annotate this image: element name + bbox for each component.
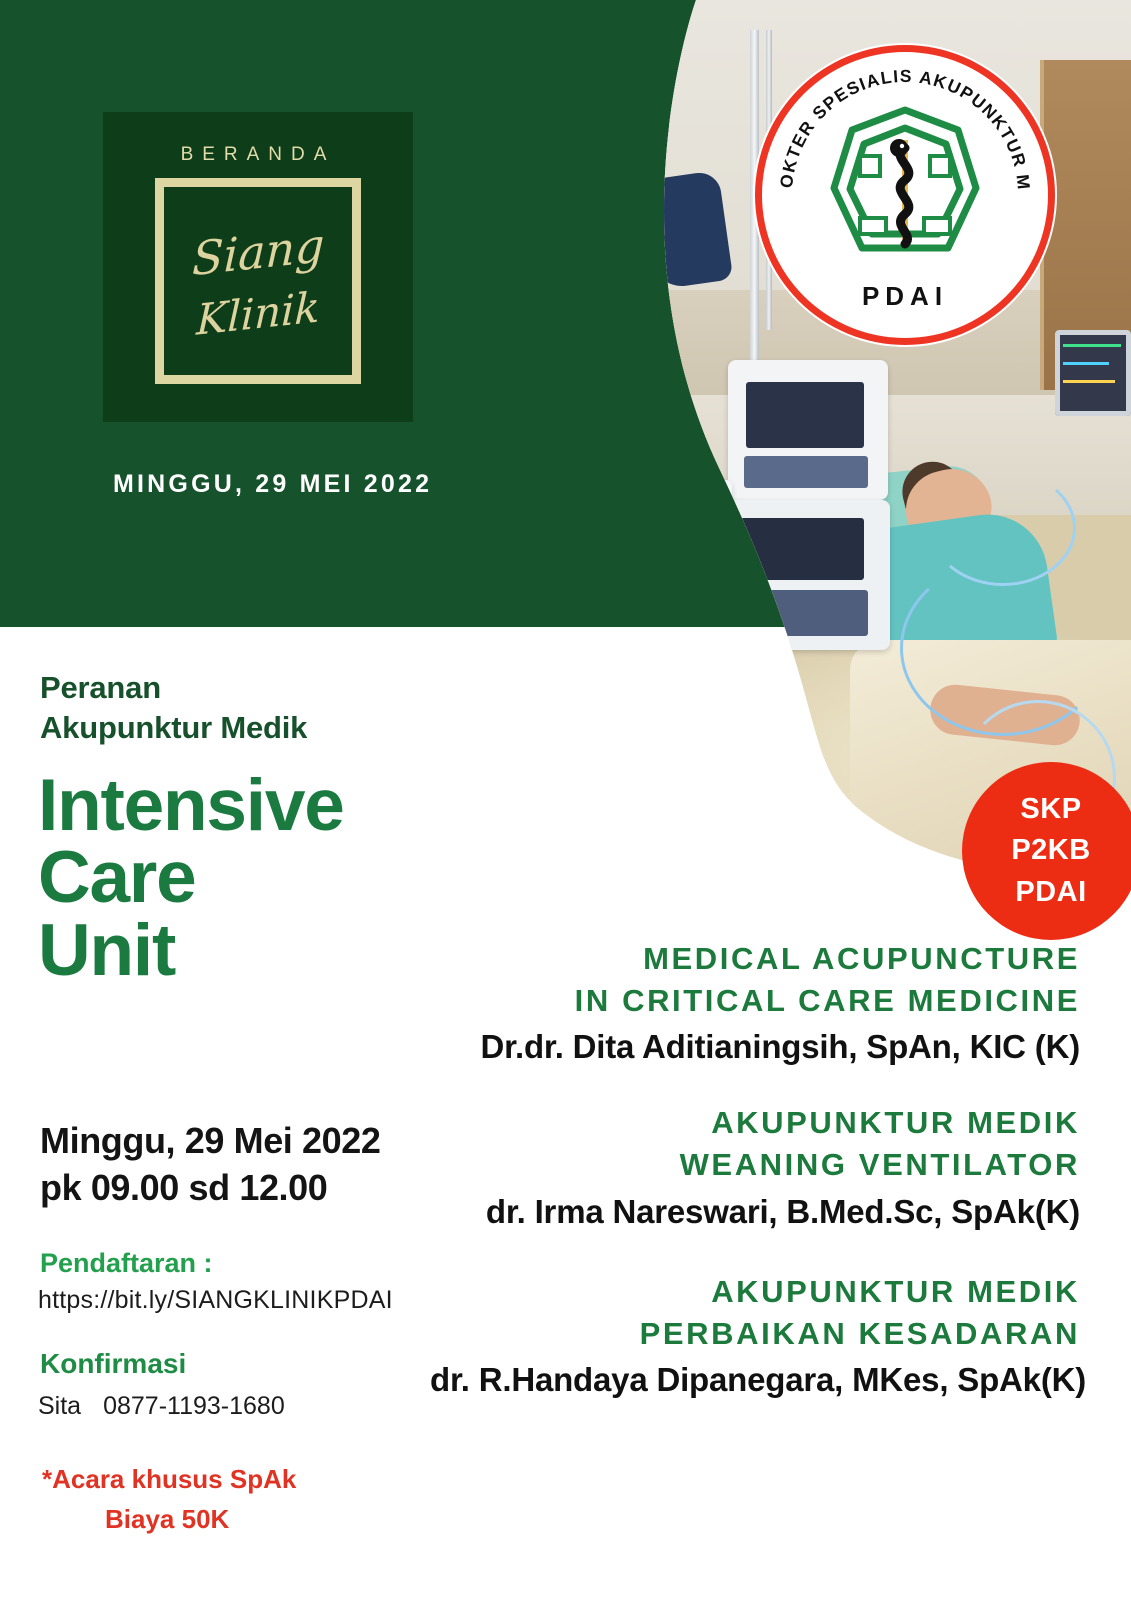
session-speaker: Dr.dr. Dita Aditianingsih, SpAn, KIC (K) — [430, 1028, 1080, 1066]
seal-acronym: PDAI — [762, 281, 1048, 312]
headline-kicker-line2: Akupunktur Medik — [40, 708, 470, 748]
siang-klinik-logo: BERANDA Siang Klinik — [103, 112, 413, 422]
seal-ring-text: PERHIMPUNAN DOKTER SPESIALIS AKUPUNKTUR … — [762, 52, 1034, 191]
headline-kicker: Peranan Akupunktur Medik — [40, 668, 470, 747]
main-title-line3: Unit — [38, 915, 468, 987]
skp-badge-line2: P2KB — [1011, 830, 1090, 871]
session-topic: MEDICAL ACUPUNCTURE IN CRITICAL CARE MED… — [430, 938, 1080, 1022]
note-special-event: *Acara khusus SpAk — [42, 1464, 296, 1495]
brand-script-line2: Klinik — [195, 282, 320, 344]
session-item: AKUPUNKTUR MEDIK PERBAIKAN KESADARAN dr.… — [430, 1271, 1080, 1399]
pdai-seal-logo: PERHIMPUNAN DOKTER SPESIALIS AKUPUNKTUR … — [762, 52, 1048, 338]
session-topic-line1: MEDICAL ACUPUNCTURE — [430, 938, 1080, 980]
skp-badge-line1: SKP — [1020, 789, 1081, 830]
registration-label: Pendaftaran : — [40, 1248, 213, 1279]
confirmation-contact: Sita0877-1193-1680 — [38, 1392, 285, 1421]
session-topic: AKUPUNKTUR MEDIK PERBAIKAN KESADARAN — [430, 1271, 1080, 1355]
session-speaker: dr. R.Handaya Dipanegara, MKes, SpAk(K) — [430, 1361, 1080, 1399]
main-title-line2: Care — [38, 842, 468, 914]
confirmation-phone[interactable]: 0877-1193-1680 — [103, 1392, 285, 1420]
session-list: MEDICAL ACUPUNCTURE IN CRITICAL CARE MED… — [430, 938, 1080, 1399]
session-topic-line2: IN CRITICAL CARE MEDICINE — [430, 980, 1080, 1022]
session-topic-line2: PERBAIKAN KESADARAN — [430, 1313, 1080, 1355]
confirmation-name: Sita — [38, 1392, 81, 1420]
registration-link[interactable]: https://bit.ly/SIANGKLINIKPDAI — [38, 1286, 393, 1315]
session-topic: AKUPUNKTUR MEDIK WEANING VENTILATOR — [430, 1102, 1080, 1186]
poster-canvas: PERHIMPUNAN DOKTER SPESIALIS AKUPUNKTUR … — [0, 0, 1131, 1600]
header-date: MINGGU, 29 MEI 2022 — [113, 466, 443, 502]
brand-script: Siang Klinik — [164, 187, 352, 375]
main-title-line1: Intensive — [38, 770, 468, 842]
brand-frame: Siang Klinik — [155, 178, 361, 384]
session-item: MEDICAL ACUPUNCTURE IN CRITICAL CARE MED… — [430, 938, 1080, 1066]
session-topic-line2: WEANING VENTILATOR — [430, 1144, 1080, 1186]
skp-badge: SKP P2KB PDAI — [962, 762, 1131, 940]
skp-badge-line3: PDAI — [1015, 872, 1086, 913]
headline-kicker-line1: Peranan — [40, 668, 470, 708]
note-fee: Biaya 50K — [105, 1504, 229, 1535]
brand-script-line1: Siang — [191, 217, 325, 285]
patient-monitor-icon — [1055, 330, 1131, 416]
main-title: Intensive Care Unit — [38, 770, 468, 987]
confirmation-label: Konfirmasi — [40, 1348, 186, 1380]
svg-text:PERHIMPUNAN DOKTER SPESIALIS A: PERHIMPUNAN DOKTER SPESIALIS AKUPUNKTUR … — [762, 52, 1034, 191]
session-item: AKUPUNKTUR MEDIK WEANING VENTILATOR dr. … — [430, 1102, 1080, 1230]
session-topic-line1: AKUPUNKTUR MEDIK — [430, 1102, 1080, 1144]
brand-kicker: BERANDA — [103, 144, 413, 166]
session-speaker: dr. Irma Nareswari, B.Med.Sc, SpAk(K) — [430, 1193, 1080, 1231]
session-topic-line1: AKUPUNKTUR MEDIK — [430, 1271, 1080, 1313]
